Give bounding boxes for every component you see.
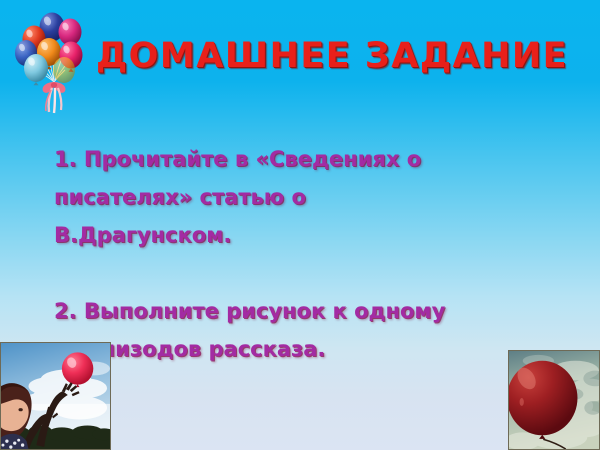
page-title: ДОМАШНЕЕ ЗАДАНИЕ — [96, 36, 568, 76]
task-1-line-3: В.Драгунском. — [54, 216, 564, 254]
task-1-line-1: 1. Прочитайте в «Сведениях о — [54, 140, 564, 178]
task-2-line-1: 2. Выполните рисунок к одному — [54, 292, 564, 330]
task-item-2: 2. Выполните рисунок к одному из эпизодо… — [54, 292, 564, 368]
task-item-1: 1. Прочитайте в «Сведениях о писателях» … — [54, 140, 564, 254]
red-balloon-sky-photo — [508, 350, 600, 450]
task-2-line-2: из эпизодов рассказа. — [54, 330, 564, 368]
task-1-line-2: писателях» статью о — [54, 178, 564, 216]
homework-task-list: 1. Прочитайте в «Сведениях о писателях» … — [54, 140, 564, 368]
balloon-cluster-icon — [8, 8, 94, 120]
girl-tossing-balloon-photo — [0, 342, 111, 450]
paragraph-spacer — [54, 254, 564, 292]
slide-canvas: ДОМАШНЕЕ ЗАДАНИЕ 1. Прочитайте в «Сведен… — [0, 0, 600, 450]
